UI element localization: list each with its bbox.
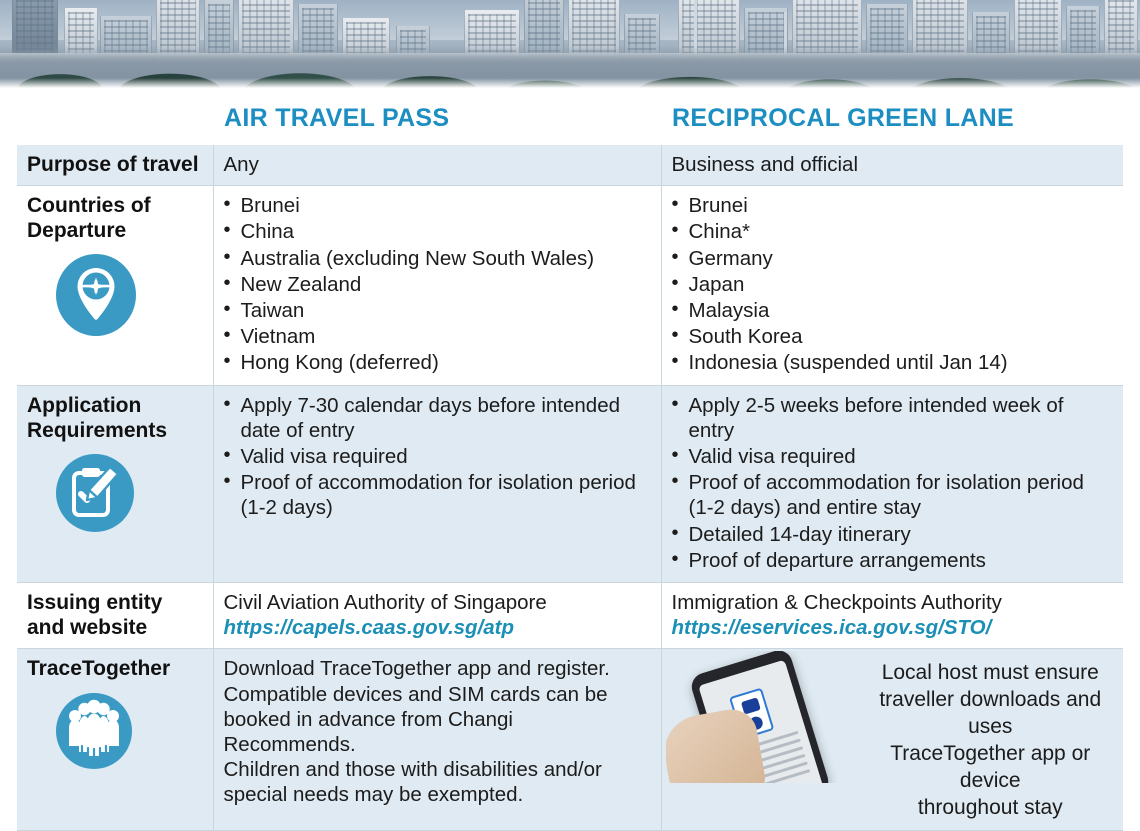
clipboard-pencil-icon bbox=[55, 453, 135, 533]
list-item: Proof of accommodation for isolation per… bbox=[672, 470, 1114, 520]
list-item: Apply 2-5 weeks before intended week of … bbox=[672, 393, 1114, 443]
row-label: Countries of Departure bbox=[27, 193, 203, 243]
entity-website-link[interactable]: https://eservices.ica.gov.sg/STO/ bbox=[672, 615, 1114, 640]
row-label: Purpose of travel bbox=[27, 152, 203, 177]
list-item: Indonesia (suspended until Jan 14) bbox=[672, 350, 1114, 375]
cell-rgl-issuing-entity: Immigration & Checkpoints Authority http… bbox=[661, 583, 1123, 649]
cell-atp-requirements: Apply 7-30 calendar days before intended… bbox=[213, 385, 661, 582]
tracetogether-people-icon bbox=[55, 692, 133, 770]
list-item: Malaysia bbox=[672, 298, 1114, 323]
list-item: Proof of accommodation for isolation per… bbox=[224, 470, 651, 520]
list-item: Vietnam bbox=[224, 324, 651, 349]
bullet-list: Brunei China* Germany Japan Malaysia Sou… bbox=[672, 193, 1114, 375]
table-row: Countries of Departure Brunei China bbox=[17, 186, 1123, 385]
column-title-air-travel-pass: AIR TRAVEL PASS bbox=[224, 104, 449, 133]
icon-container bbox=[27, 254, 203, 336]
list-item: China bbox=[224, 219, 651, 244]
row-label: Issuing entity and website bbox=[27, 590, 203, 640]
bullet-list: Apply 7-30 calendar days before intended… bbox=[224, 393, 651, 521]
list-item: Brunei bbox=[672, 193, 1114, 218]
cell-atp-issuing-entity: Civil Aviation Authority of Singapore ht… bbox=[213, 583, 661, 649]
cell-atp-countries: Brunei China Australia (excluding New So… bbox=[213, 186, 661, 385]
location-pin-airplane-icon bbox=[55, 254, 137, 336]
cell-atp-tracetogether: Download TraceTogether app and register.… bbox=[213, 649, 661, 830]
comparison-table: Purpose of travel Any Business and offic… bbox=[17, 145, 1123, 831]
cell-rgl-purpose: Business and official bbox=[661, 145, 1123, 186]
list-item: Detailed 14-day itinerary bbox=[672, 522, 1114, 547]
bullet-list: Brunei China Australia (excluding New So… bbox=[224, 193, 651, 375]
cell-rgl-tracetogether: Local host must ensure traveller downloa… bbox=[661, 649, 1123, 830]
list-item: South Korea bbox=[672, 324, 1114, 349]
row-label: Application Requirements bbox=[27, 393, 203, 443]
cell-text: Business and official bbox=[672, 152, 1114, 177]
bullet-list: Apply 2-5 weeks before intended week of … bbox=[672, 393, 1114, 573]
cell-text-line: special needs may be exempted. bbox=[224, 782, 651, 807]
cell-text-block: Local host must ensure traveller downloa… bbox=[868, 656, 1114, 821]
icon-container bbox=[27, 692, 203, 770]
table-row: Purpose of travel Any Business and offic… bbox=[17, 145, 1123, 186]
row-label: TraceTogether bbox=[27, 656, 203, 681]
list-item: Valid visa required bbox=[224, 444, 651, 469]
cell-atp-purpose: Any bbox=[213, 145, 661, 186]
cell-text-line: booked in advance from Changi Recommends… bbox=[224, 707, 651, 757]
entity-website-link[interactable]: https://capels.caas.gov.sg/atp bbox=[224, 615, 651, 640]
cell-text-line: Children and those with disabilities and… bbox=[224, 757, 651, 782]
list-item: Apply 7-30 calendar days before intended… bbox=[224, 393, 651, 443]
banner-fade bbox=[0, 78, 1140, 88]
cell-text-line: Compatible devices and SIM cards can be bbox=[224, 682, 651, 707]
list-item: Australia (excluding New South Wales) bbox=[224, 246, 651, 271]
entity-name: Civil Aviation Authority of Singapore bbox=[224, 590, 651, 615]
column-headers: AIR TRAVEL PASS RECIPROCAL GREEN LANE bbox=[0, 88, 1140, 145]
cell-rgl-requirements: Apply 2-5 weeks before intended week of … bbox=[661, 385, 1123, 582]
list-item: China* bbox=[672, 219, 1114, 244]
list-item: Brunei bbox=[224, 193, 651, 218]
skyline-banner-photo bbox=[0, 0, 1140, 88]
cell-text-line: Download TraceTogether app and register. bbox=[224, 656, 651, 681]
cell-text: Any bbox=[224, 152, 651, 177]
list-item: Germany bbox=[672, 246, 1114, 271]
list-item: Valid visa required bbox=[672, 444, 1114, 469]
cell-text-line: TraceTogether app or device bbox=[868, 741, 1114, 795]
row-label-cell: TraceTogether bbox=[17, 649, 213, 830]
row-label-cell: Countries of Departure bbox=[17, 186, 213, 385]
row-label-cell: Purpose of travel bbox=[17, 145, 213, 186]
table-row: Issuing entity and website Civil Aviatio… bbox=[17, 583, 1123, 649]
list-item: Taiwan bbox=[224, 298, 651, 323]
list-item: Proof of departure arrangements bbox=[672, 548, 1114, 573]
entity-name: Immigration & Checkpoints Authority bbox=[672, 590, 1114, 615]
table-row: TraceTogether bbox=[17, 649, 1123, 830]
list-item: New Zealand bbox=[224, 272, 651, 297]
list-item: Hong Kong (deferred) bbox=[224, 350, 651, 375]
row-label-cell: Issuing entity and website bbox=[17, 583, 213, 649]
row-label-cell: Application Requirements bbox=[17, 385, 213, 582]
hand-holding-phone-photo bbox=[666, 651, 856, 783]
table-row: Application Requirements Apply 7-30 cale… bbox=[17, 385, 1123, 582]
cell-text-line: Local host must ensure bbox=[868, 660, 1114, 687]
icon-container bbox=[27, 453, 203, 533]
cell-rgl-countries: Brunei China* Germany Japan Malaysia Sou… bbox=[661, 186, 1123, 385]
cell-text-line: traveller downloads and uses bbox=[868, 687, 1114, 741]
list-item: Japan bbox=[672, 272, 1114, 297]
column-title-reciprocal-green-lane: RECIPROCAL GREEN LANE bbox=[672, 104, 1014, 133]
cell-text-line: throughout stay bbox=[868, 795, 1114, 822]
